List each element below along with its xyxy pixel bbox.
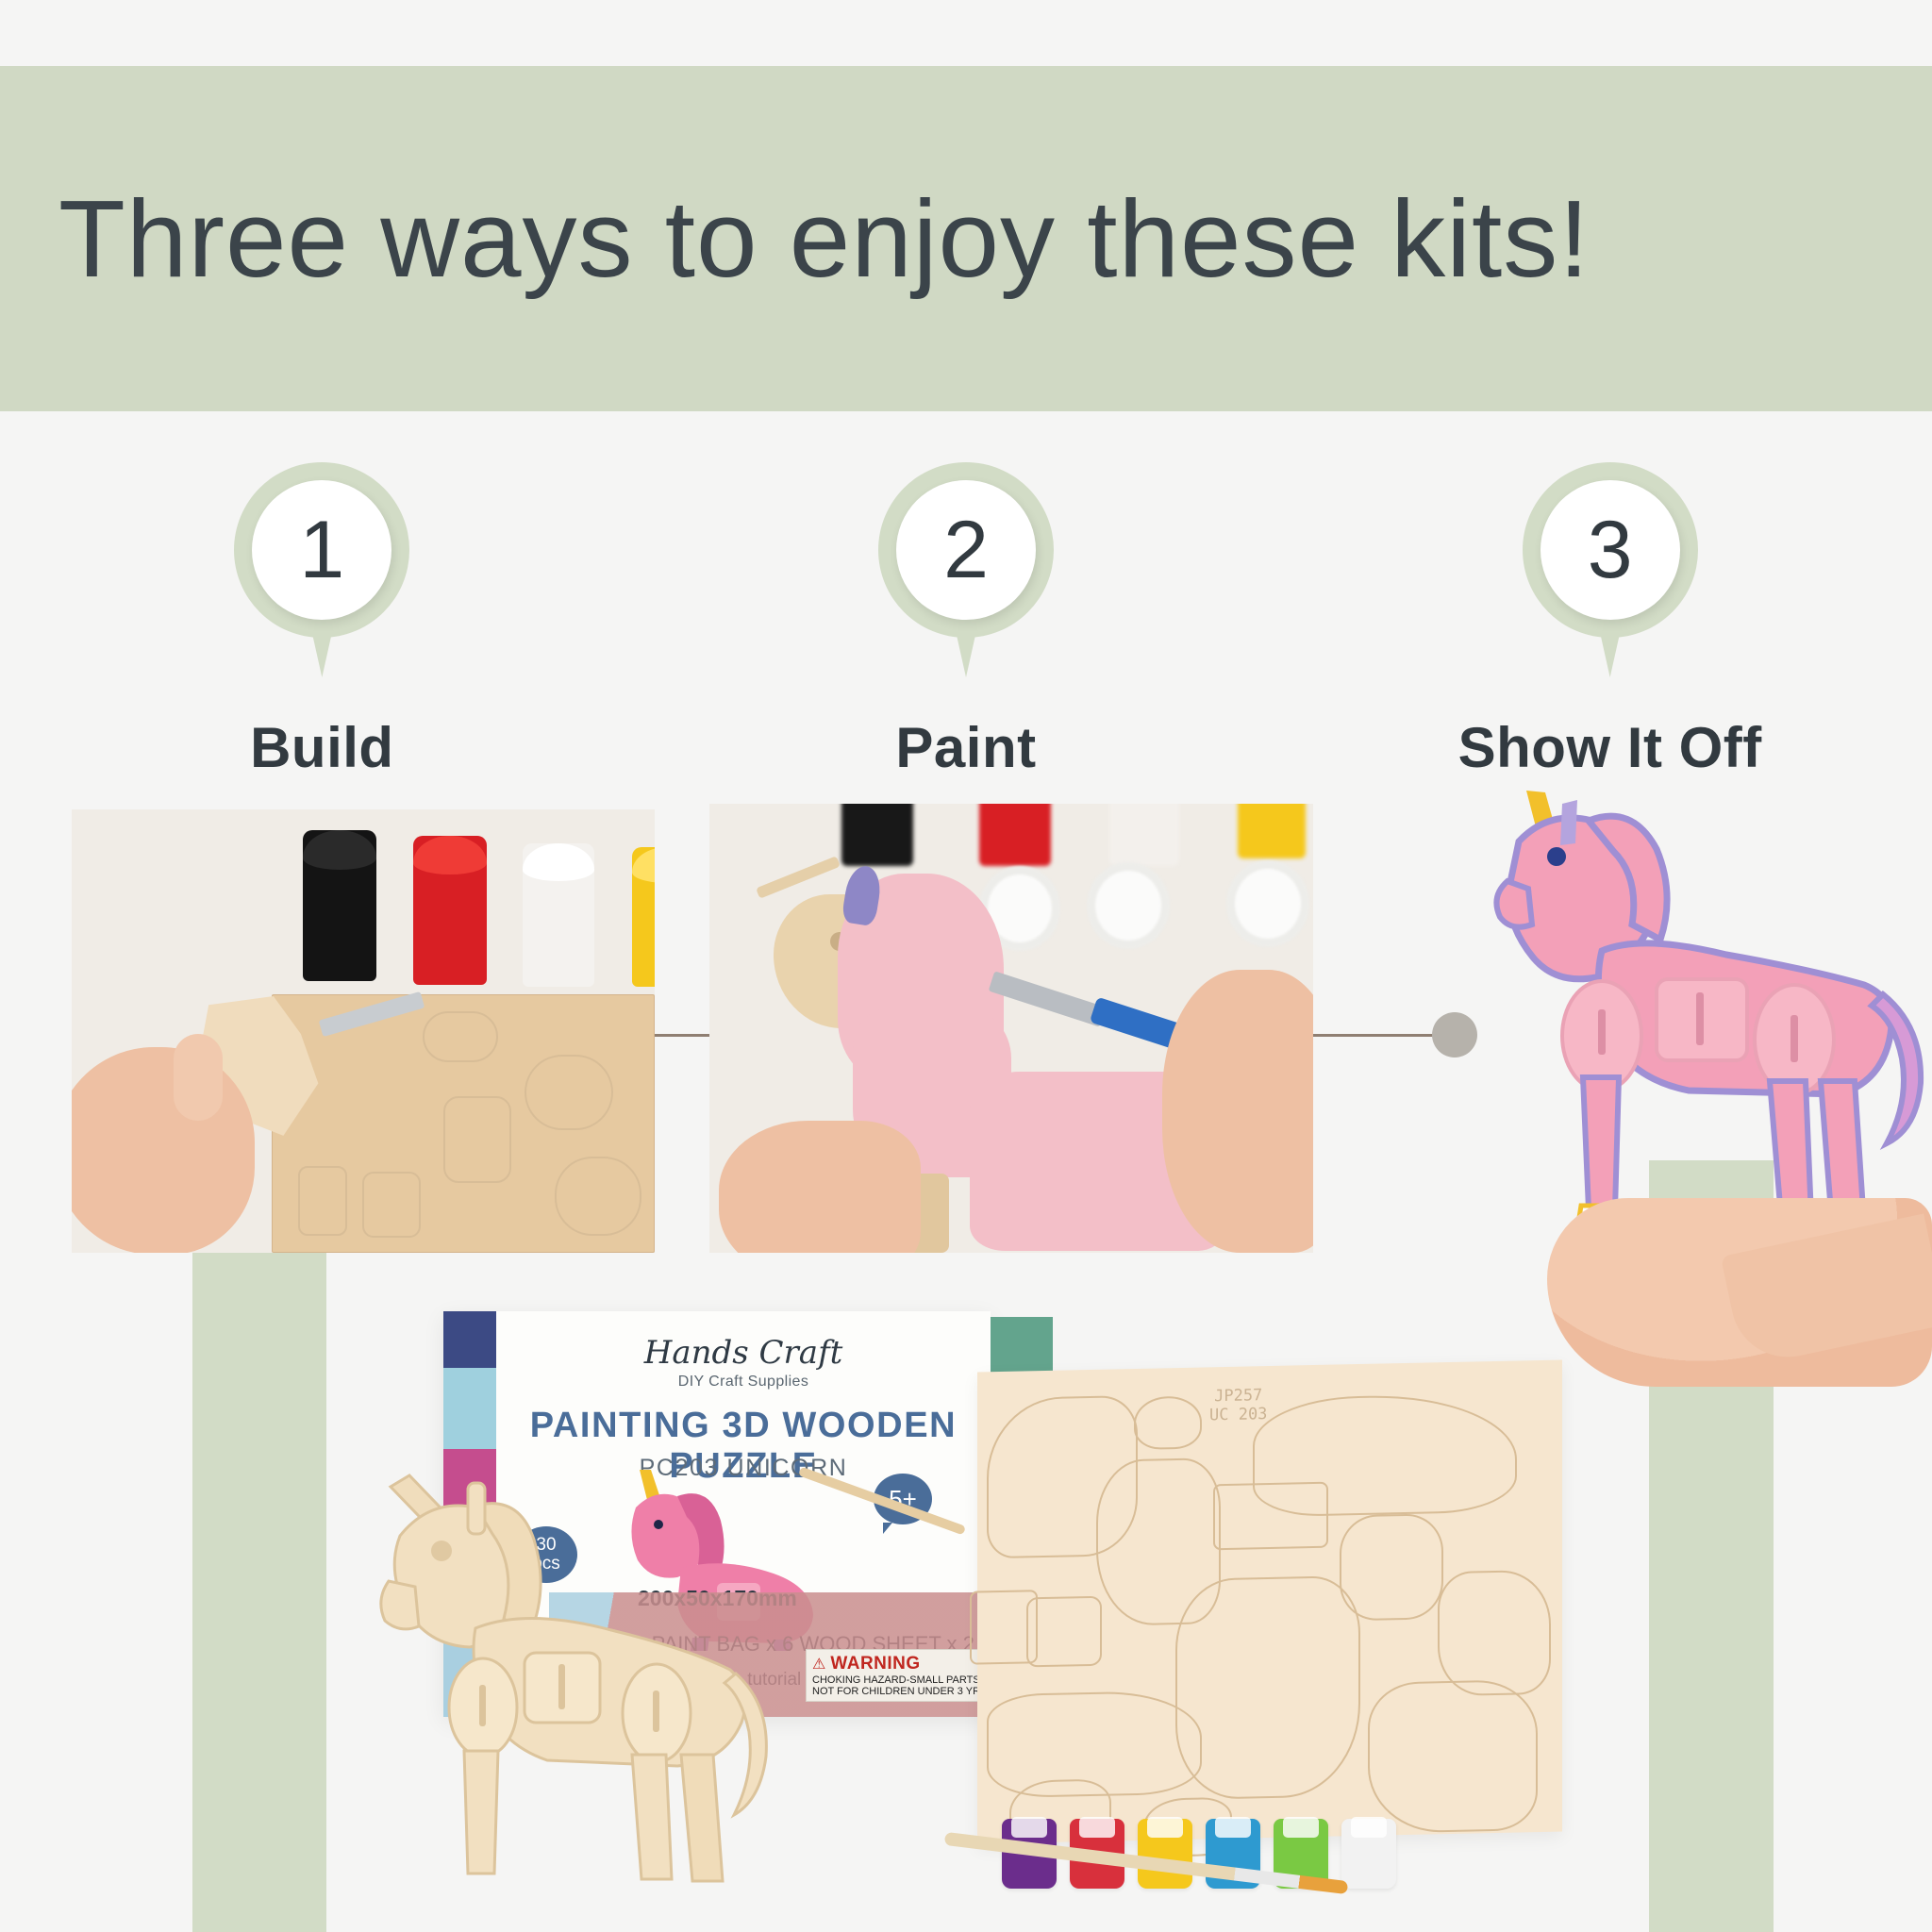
hand-holding-piece <box>72 1047 255 1253</box>
slot <box>479 1685 486 1726</box>
decorative-green-band-left <box>192 1253 326 1932</box>
paint-pot-red <box>413 836 487 985</box>
paint-pot-red-blurred <box>979 804 1051 866</box>
paint-pot-black-blurred <box>841 804 913 866</box>
cut-outline-hoof <box>1134 1396 1202 1451</box>
connector-line-2-3 <box>1313 1034 1438 1037</box>
wood-sheet-panel: JP257 UC 203 <box>977 1360 1562 1844</box>
warning-triangle-icon: ⚠ <box>812 1655 825 1674</box>
step-number-2: 2 <box>896 480 1036 620</box>
hand-holding-brush <box>1162 970 1313 1253</box>
unicorn-muzzle <box>1496 881 1532 927</box>
raw-wood-unicorn-model <box>377 1396 774 1887</box>
warning-line-2: NOT FOR CHILDREN UNDER 3 YRS. <box>812 1686 978 1697</box>
photo-paint <box>709 804 1313 1253</box>
step-pin-3: 3 <box>1523 462 1698 638</box>
raw-unicorn-leg <box>464 1751 498 1874</box>
step-label-paint: Paint <box>895 715 1036 780</box>
header-banner: Three ways to enjoy these kits! <box>0 66 1932 411</box>
empty-paint-cup <box>1226 860 1309 947</box>
unicorn-front-leg <box>1583 1077 1619 1209</box>
brand-tagline: DIY Craft Supplies <box>496 1374 991 1391</box>
cut-outline <box>423 1011 498 1062</box>
connector-line-1-2 <box>655 1034 711 1037</box>
warning-header: ⚠ WARNING <box>812 1654 978 1674</box>
slot <box>653 1690 659 1732</box>
slot <box>1696 992 1704 1045</box>
thumb <box>174 1034 223 1121</box>
slot <box>1790 1015 1798 1062</box>
unicorn-ear <box>1560 800 1577 845</box>
unicorn-eye <box>1547 847 1566 866</box>
raw-unicorn-leg <box>632 1755 672 1879</box>
photo-build <box>72 809 655 1253</box>
step-number-1: 1 <box>252 480 391 620</box>
paint-pot-white-blurred <box>1109 804 1179 866</box>
raw-unicorn-leg <box>681 1755 723 1881</box>
spine-color-navy <box>443 1311 496 1376</box>
step-item-build: 1 Build <box>0 462 644 783</box>
hand-holding-finished-unicorn <box>1547 1198 1932 1387</box>
paint-pot-white <box>523 843 594 987</box>
step-pin-1: 1 <box>234 462 409 638</box>
cut-outline-body <box>1175 1575 1360 1800</box>
cut-outline-tail <box>1253 1393 1517 1518</box>
empty-paint-cup <box>1087 862 1170 949</box>
page-title: Three ways to enjoy these kits! <box>58 184 1591 293</box>
wood-sheet-engraving-line-2: UC 203 <box>1209 1406 1267 1425</box>
cut-outline-small <box>1026 1596 1102 1668</box>
wood-sheet-engraving-line-1: JP257 <box>1209 1387 1267 1407</box>
wood-sheet-engraving: JP257 UC 203 <box>1209 1387 1267 1424</box>
step-item-paint: 2 Paint <box>644 462 1289 783</box>
slot <box>558 1664 565 1709</box>
step-pin-2: 2 <box>878 462 1054 638</box>
cut-outline <box>298 1166 347 1236</box>
slot <box>1598 1009 1606 1055</box>
warning-line-1: CHOKING HAZARD-SMALL PARTS. <box>812 1674 978 1686</box>
paint-pot-white <box>1341 1819 1396 1889</box>
warning-label: ⚠ WARNING CHOKING HAZARD-SMALL PARTS. NO… <box>806 1649 985 1702</box>
raw-unicorn-muzzle <box>381 1581 419 1629</box>
step-label-build: Build <box>250 715 393 780</box>
cut-outline <box>555 1157 641 1236</box>
hand-holding-model <box>719 1121 921 1253</box>
paint-pot-yellow <box>632 847 655 987</box>
steps-row: 1 Build 2 Paint 3 Show It Off <box>0 462 1932 783</box>
cut-outline-leg-3 <box>1368 1679 1538 1834</box>
raw-unicorn-ear <box>468 1483 485 1534</box>
step-label-show-it-off: Show It Off <box>1458 715 1762 780</box>
brand-logo-text: Hands Craft <box>496 1334 991 1372</box>
connector-dot <box>1432 1012 1477 1058</box>
cut-outline <box>443 1096 511 1183</box>
cut-outline <box>525 1055 613 1130</box>
raw-unicorn-eye-hole <box>431 1541 452 1561</box>
cut-outline-leg <box>1340 1513 1443 1621</box>
cut-outline-head <box>1438 1570 1551 1697</box>
warning-word: WARNING <box>830 1654 920 1674</box>
step-number-3: 3 <box>1541 480 1680 620</box>
unicorn-rear-leg <box>1770 1081 1811 1217</box>
paint-pot-yellow <box>1138 1819 1192 1889</box>
paint-pot-yellow-blurred <box>1238 804 1306 858</box>
paint-pot-black <box>303 830 376 981</box>
cut-outline <box>362 1172 421 1238</box>
step-item-show-it-off: 3 Show It Off <box>1288 462 1932 783</box>
